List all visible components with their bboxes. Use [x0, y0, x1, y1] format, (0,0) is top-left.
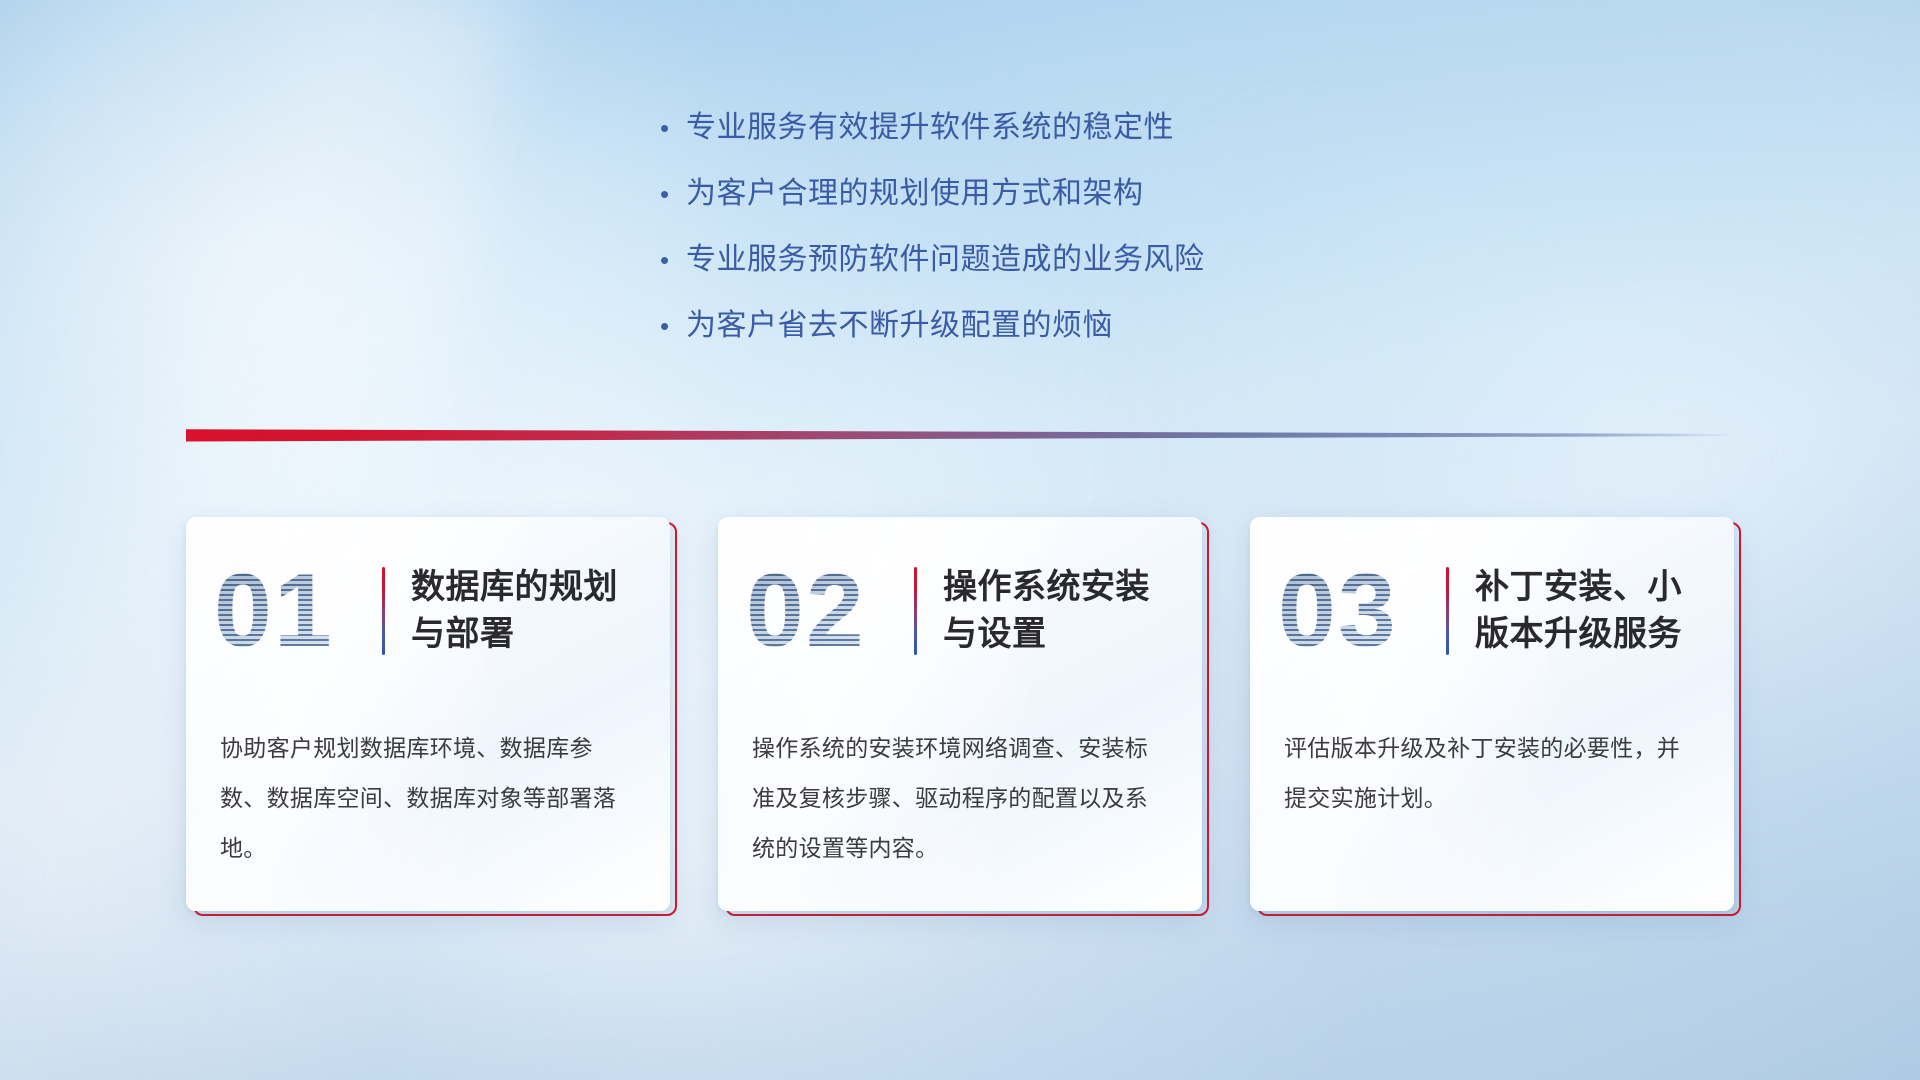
card-surface[interactable]: 03 补丁安装、小版本升级服务 评估版本升级及补丁安装的必要性，并提交实施计划。: [1250, 517, 1734, 911]
bullet-item: • 专业服务预防软件问题造成的业务风险: [660, 240, 1440, 280]
service-card-02[interactable]: 02 操作系统安装与设置 操作系统的安装环境网络调查、安装标准及复核步骤、驱动程…: [718, 517, 1202, 911]
card-divider-rule: [382, 567, 385, 655]
bullet-item: • 专业服务有效提升软件系统的稳定性: [660, 108, 1440, 148]
bullet-item-text: 为客户省去不断升级配置的烦恼: [686, 306, 1113, 346]
card-header: 01 数据库的规划与部署: [186, 517, 670, 667]
card-number: 03: [1278, 559, 1442, 663]
bullet-marker-icon: •: [660, 108, 686, 148]
card-description: 评估版本升级及补丁安装的必要性，并提交实施计划。: [1250, 667, 1734, 823]
service-card-01[interactable]: 01 数据库的规划与部署 协助客户规划数据库环境、数据库参数、数据库空间、数据库…: [186, 517, 670, 911]
card-title: 操作系统安装与设置: [943, 564, 1202, 658]
slide-stage: • 专业服务有效提升软件系统的稳定性 • 为客户合理的规划使用方式和架构 • 专…: [0, 0, 1920, 1080]
bullet-marker-icon: •: [660, 306, 686, 346]
card-divider-rule: [1446, 567, 1449, 655]
service-card-03[interactable]: 03 补丁安装、小版本升级服务 评估版本升级及补丁安装的必要性，并提交实施计划。: [1250, 517, 1734, 911]
bullet-item-text: 专业服务有效提升软件系统的稳定性: [686, 108, 1174, 148]
bullet-marker-icon: •: [660, 174, 686, 214]
card-description: 操作系统的安装环境网络调查、安装标准及复核步骤、驱动程序的配置以及系统的设置等内…: [718, 667, 1202, 873]
card-divider-rule: [914, 567, 917, 655]
card-surface[interactable]: 01 数据库的规划与部署 协助客户规划数据库环境、数据库参数、数据库空间、数据库…: [186, 517, 670, 911]
card-surface[interactable]: 02 操作系统安装与设置 操作系统的安装环境网络调查、安装标准及复核步骤、驱动程…: [718, 517, 1202, 911]
bullet-marker-icon: •: [660, 240, 686, 280]
bullet-item-text: 专业服务预防软件问题造成的业务风险: [686, 240, 1205, 280]
bullet-item: • 为客户合理的规划使用方式和架构: [660, 174, 1440, 214]
card-number: 01: [214, 559, 378, 663]
card-title: 补丁安装、小版本升级服务: [1475, 564, 1734, 658]
card-title: 数据库的规划与部署: [411, 564, 670, 658]
card-description: 协助客户规划数据库环境、数据库参数、数据库空间、数据库对象等部署落地。: [186, 667, 670, 873]
bullet-item-text: 为客户合理的规划使用方式和架构: [686, 174, 1144, 214]
card-header: 02 操作系统安装与设置: [718, 517, 1202, 667]
benefits-bullet-list: • 专业服务有效提升软件系统的稳定性 • 为客户合理的规划使用方式和架构 • 专…: [660, 108, 1440, 372]
divider-gradient-bar: [186, 426, 1734, 444]
section-divider: [186, 426, 1734, 444]
card-number: 02: [746, 559, 910, 663]
bullet-item: • 为客户省去不断升级配置的烦恼: [660, 306, 1440, 346]
card-header: 03 补丁安装、小版本升级服务: [1250, 517, 1734, 667]
service-card-list: 01 数据库的规划与部署 协助客户规划数据库环境、数据库参数、数据库空间、数据库…: [186, 517, 1734, 911]
